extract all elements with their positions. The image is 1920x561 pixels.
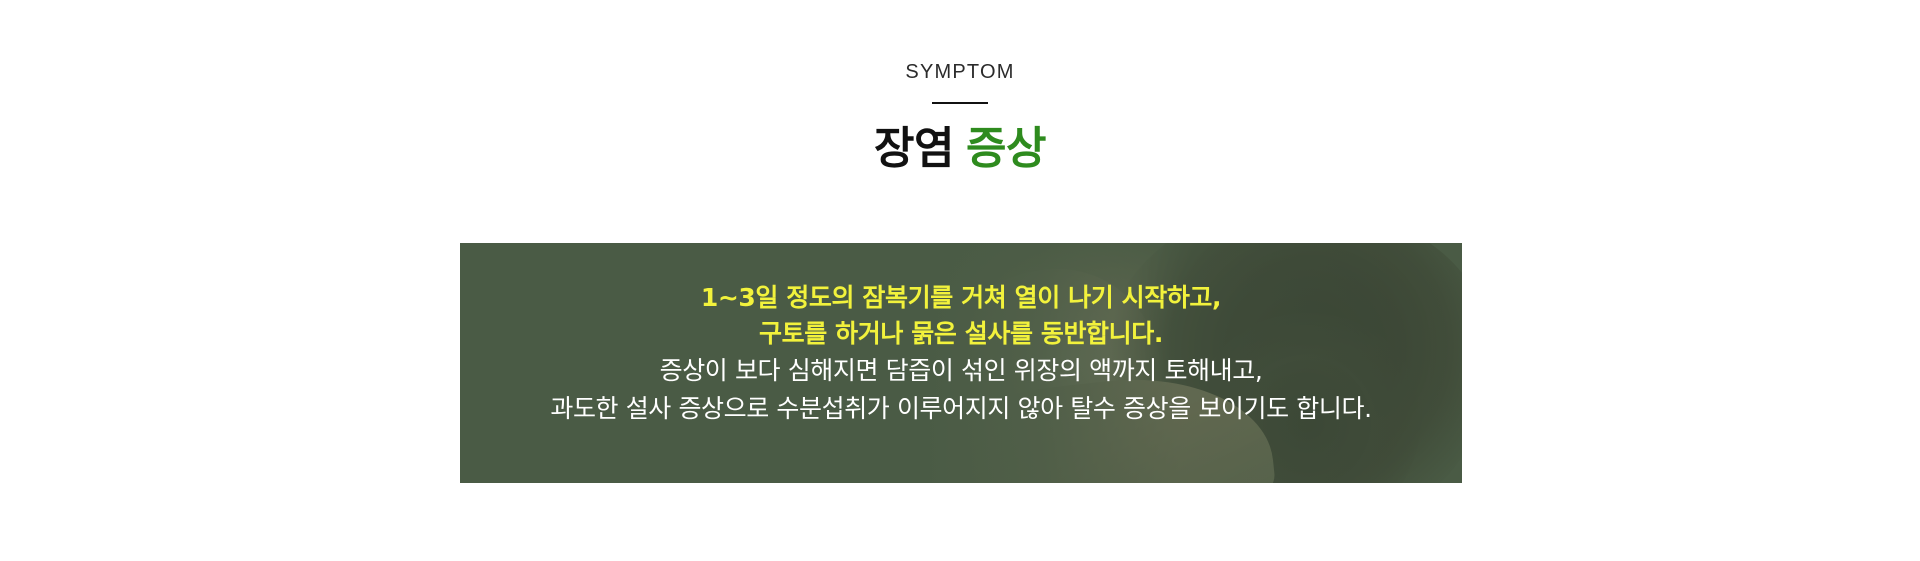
banner-copy-block: 1~3일 정도의 잠복기를 거쳐 열이 나기 시작하고, 구토를 하거나 묽은 … [460, 243, 1462, 483]
symptom-banner: 1~3일 정도의 잠복기를 거쳐 열이 나기 시작하고, 구토를 하거나 묽은 … [460, 243, 1462, 483]
divider-wrapper [0, 102, 1920, 104]
section-header: SYMPTOM 장염증상 [0, 0, 1920, 176]
divider-rule [932, 102, 988, 104]
banner-line-1: 1~3일 정도의 잠복기를 거쳐 열이 나기 시작하고, [701, 280, 1221, 316]
banner-line-4: 과도한 설사 증상으로 수분섭취가 이루어지지 않아 탈수 증상을 보이기도 합… [550, 390, 1371, 428]
page-title-accent: 증상 [966, 123, 1046, 174]
banner-line-2: 구토를 하거나 묽은 설사를 동반합니다. [759, 316, 1163, 352]
symptom-section: SYMPTOM 장염증상 1~3일 정도의 잠복기를 거쳐 열이 나기 시작하고… [0, 0, 1920, 561]
page-title: 장염증상 [0, 122, 1920, 176]
banner-line-3: 증상이 보다 심해지면 담즙이 섞인 위장의 액까지 토해내고, [660, 352, 1263, 390]
section-eyebrow-label: SYMPTOM [0, 58, 1920, 86]
page-title-primary: 장염 [874, 123, 954, 174]
